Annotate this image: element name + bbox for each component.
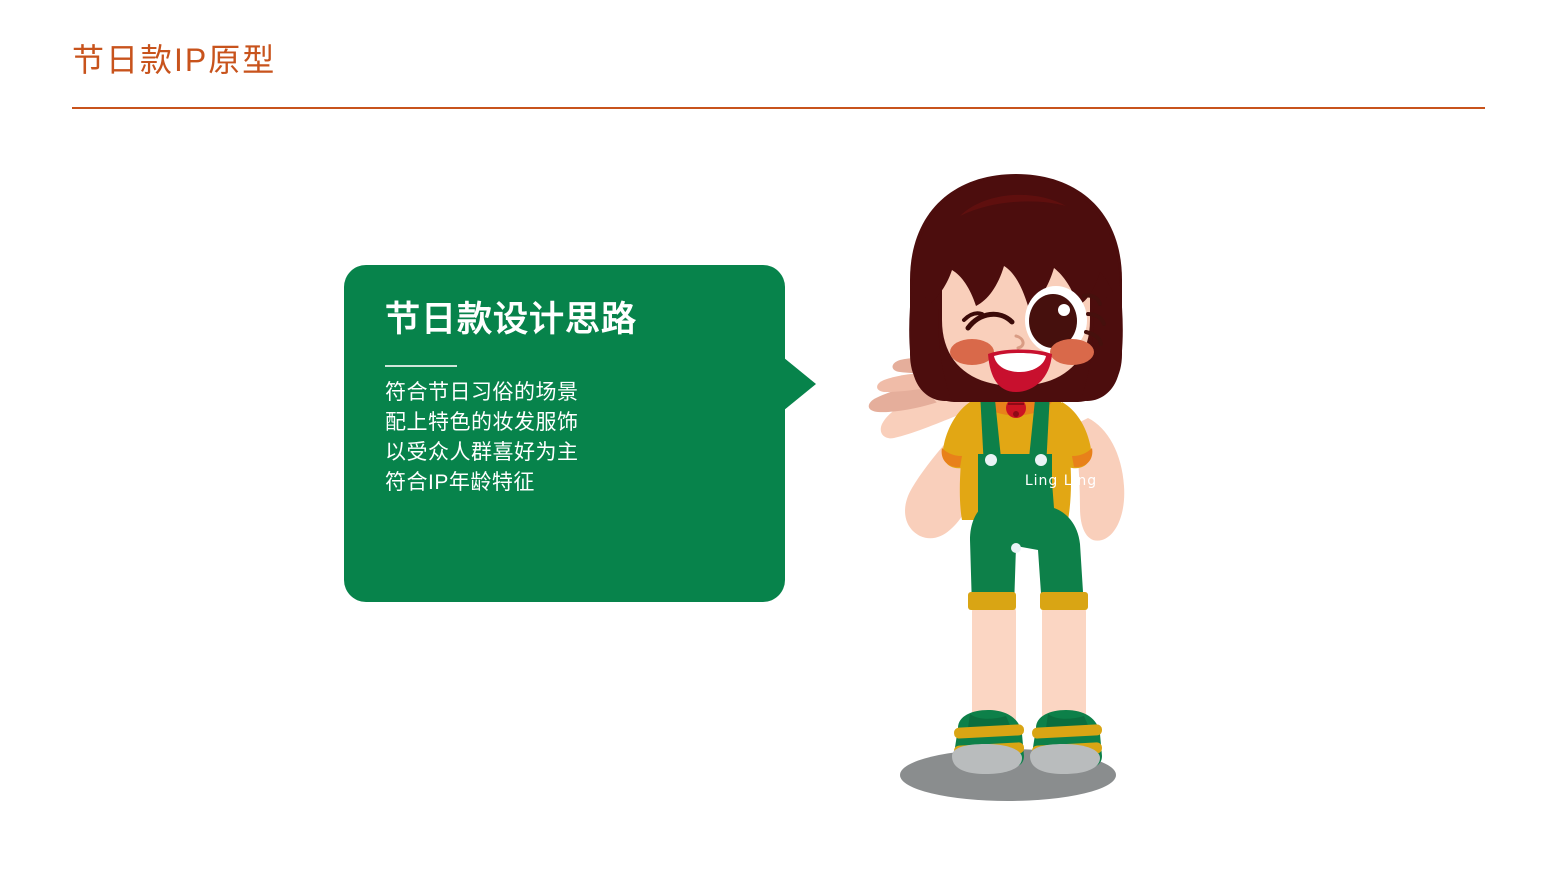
callout-line: 符合节日习俗的场景 — [385, 378, 745, 408]
shoe-toe-cap — [952, 744, 1022, 774]
overall-button-left — [985, 454, 997, 466]
ip-character-illustration: Ling Ling — [820, 168, 1190, 808]
callout-divider-line — [385, 365, 457, 367]
overall-cuff-left — [968, 592, 1016, 610]
callout-heading: 节日款设计思路 — [385, 298, 637, 342]
shoe-left — [952, 710, 1024, 774]
overall-button-center — [1011, 543, 1021, 553]
cheek-right — [1050, 339, 1094, 365]
shoe-toe-cap — [1030, 744, 1100, 774]
slide-header: 节日款IP原型 — [0, 0, 1556, 120]
callout-line-list: 符合节日习俗的场景 配上特色的妆发服饰 以受众人群喜好为主 符合IP年龄特征 — [385, 378, 745, 498]
design-concept-callout: 节日款设计思路 符合节日习俗的场景 配上特色的妆发服饰 以受众人群喜好为主 符合… — [344, 265, 812, 602]
callout-line: 符合IP年龄特征 — [385, 468, 745, 498]
callout-line: 配上特色的妆发服饰 — [385, 408, 745, 438]
page-title: 节日款IP原型 — [72, 40, 276, 80]
shoe-right — [1030, 710, 1102, 774]
header-divider-rule — [72, 107, 1485, 109]
overall-cuff-right — [1040, 592, 1088, 610]
overall-button-right — [1035, 454, 1047, 466]
callout-pointer-triangle — [778, 353, 816, 415]
callout-line: 以受众人群喜好为主 — [385, 438, 745, 468]
cheek-left — [950, 339, 994, 365]
